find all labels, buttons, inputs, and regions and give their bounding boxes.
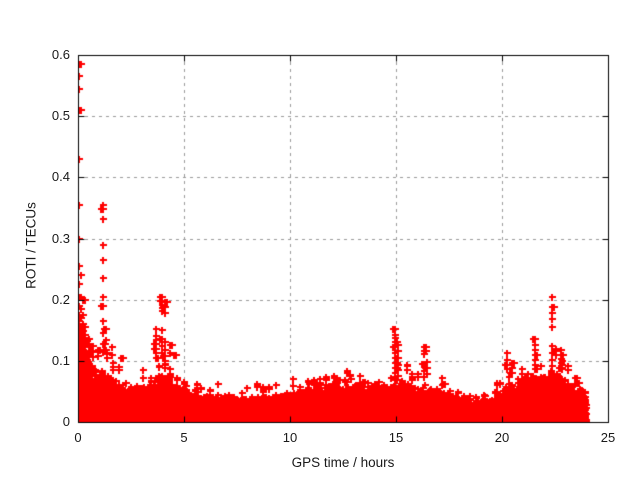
y-tick-label: 0.6 [0,47,70,62]
x-axis-label: GPS time / hours [78,455,608,470]
x-tick-label: 25 [578,430,638,445]
x-tick-label: 5 [154,430,214,445]
y-tick-label: 0.3 [0,231,70,246]
y-tick-label: 0 [0,414,70,429]
chart-plot-area [0,0,640,480]
roti-scatter-plot: Day 195 of 2014, Rate Of TEC Index for r… [0,0,640,480]
x-tick-label: 15 [366,430,426,445]
y-tick-label: 0.4 [0,169,70,184]
x-tick-label: 20 [472,430,532,445]
x-tick-label: 10 [260,430,320,445]
y-tick-label: 0.5 [0,108,70,123]
y-tick-label: 0.1 [0,353,70,368]
x-tick-label: 0 [48,430,108,445]
y-tick-label: 0.2 [0,292,70,307]
